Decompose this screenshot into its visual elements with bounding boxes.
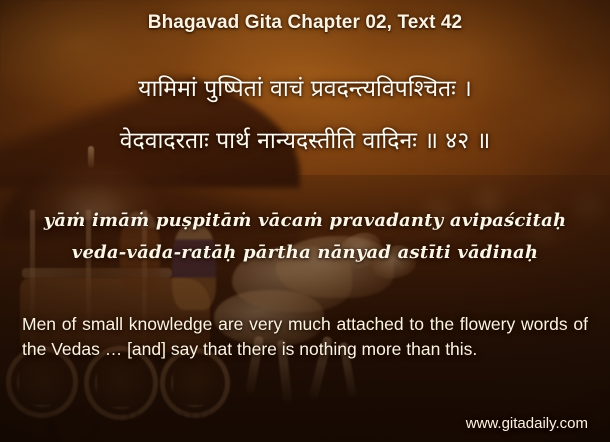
page-title: Bhagavad Gita Chapter 02, Text 42	[0, 12, 610, 34]
transliteration-line-1: yāṁ imāṁ puṣpitāṁ vācaṁ pravadanty avipa…	[0, 210, 610, 231]
website-url: www.gitadaily.com	[466, 415, 588, 432]
sanskrit-verse-line-1: यामिमां पुष्पितां वाचं प्रवदन्त्यविपश्चि…	[0, 78, 610, 101]
sanskrit-verse-line-2: वेदवादरताः पार्थ नान्यदस्तीति वादिनः ॥ ४…	[0, 130, 610, 153]
translation-text: Men of small knowledge are very much att…	[22, 312, 588, 363]
gita-verse-slide: Bhagavad Gita Chapter 02, Text 42 यामिमा…	[0, 0, 610, 442]
translation-last-line: nothing more than this.	[299, 339, 477, 359]
verse-content: Bhagavad Gita Chapter 02, Text 42 यामिमा…	[0, 0, 610, 442]
transliteration-line-2: veda-vāda-ratāḥ pārtha nānyad astīti vād…	[0, 242, 610, 263]
